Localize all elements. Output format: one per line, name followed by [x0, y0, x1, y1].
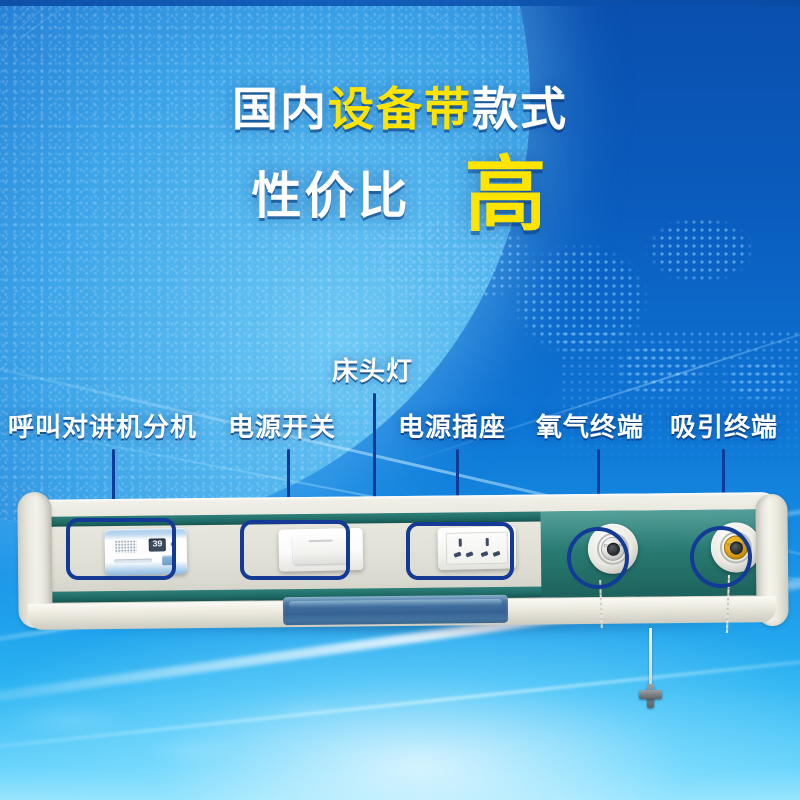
world-map-dot-pattern-secondary — [560, 330, 800, 480]
callout-label-bed-lamp: 床头灯 — [332, 358, 413, 384]
headline-line-2-row: 性价比 高 — [0, 158, 800, 233]
highlight-box-power-switch — [240, 520, 350, 580]
headline-text-accent: 设备带 — [328, 83, 472, 135]
callout-label-power-socket: 电源插座 — [398, 414, 506, 440]
top-edge-bar — [0, 0, 800, 6]
headline-line-1: 国内设备带款式 — [0, 86, 800, 132]
headline-text-2: 性价比 — [251, 171, 410, 221]
highlight-circle-oxygen-terminal — [567, 527, 629, 589]
nurse-call-pull-cord — [649, 628, 652, 688]
highlight-box-power-socket — [406, 522, 514, 580]
headline-block: 国内设备带款式 性价比 高 — [0, 86, 800, 233]
callout-label-power-switch: 电源开关 — [228, 414, 336, 440]
highlight-circle-suction-terminal — [690, 526, 752, 588]
callout-label-suction-terminal: 吸引终端 — [670, 414, 778, 440]
bed-lamp-diffuser — [283, 595, 508, 625]
callout-label-oxygen-terminal: 氧气终端 — [536, 414, 644, 440]
headline-text-big: 高 — [464, 158, 548, 233]
headline-text-1b: 款式 — [472, 83, 568, 135]
promo-banner: 国内设备带款式 性价比 高 呼叫对讲机分机 电源开关 床头灯 电源插座 氧气终端… — [0, 0, 800, 800]
callout-label-call-intercom: 呼叫对讲机分机 — [8, 414, 197, 440]
pull-cord-handle — [639, 684, 662, 708]
headline-text-1a: 国内 — [232, 83, 328, 135]
highlight-box-call-intercom — [66, 518, 176, 580]
